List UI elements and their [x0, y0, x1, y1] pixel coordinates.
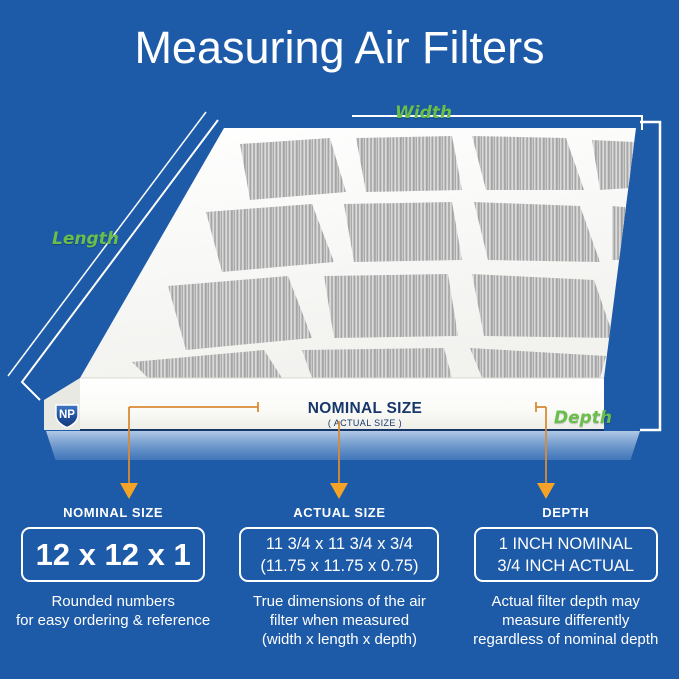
- infographic-page: Measuring Air Filters: [0, 0, 679, 679]
- card-value-line: 1 INCH NOMINAL: [497, 533, 634, 555]
- card-caption: Actual filter depth may measure differen…: [459, 592, 673, 649]
- card-value: 11 3/4 x 11 3/4 x 3/4 (11.75 x 11.75 x 0…: [260, 533, 418, 577]
- card-nominal-size: NOMINAL SIZE 12 x 12 x 1 Rounded numbers…: [0, 505, 226, 649]
- info-cards: NOMINAL SIZE 12 x 12 x 1 Rounded numbers…: [0, 505, 679, 649]
- card-value: 12 x 12 x 1: [36, 537, 191, 573]
- width-label: Width: [395, 103, 452, 123]
- card-value-box: 12 x 12 x 1: [21, 527, 205, 582]
- card-caption-line: True dimensions of the air: [232, 592, 446, 611]
- card-value-line: 11 3/4 x 11 3/4 x 3/4: [260, 533, 418, 555]
- card-value: 1 INCH NOMINAL 3/4 INCH ACTUAL: [497, 533, 634, 577]
- card-caption-line: measure differently: [459, 611, 673, 630]
- depth-bracket: [640, 122, 660, 430]
- card-caption-line: regardless of nominal depth: [459, 630, 673, 649]
- card-value-line: (11.75 x 11.75 x 0.75): [260, 555, 418, 577]
- card-caption-line: filter when measured: [232, 611, 446, 630]
- card-header: DEPTH: [459, 505, 673, 520]
- card-caption-line: (width x length x depth): [232, 630, 446, 649]
- card-header: NOMINAL SIZE: [6, 505, 220, 520]
- callout-arrows: [0, 395, 679, 510]
- card-caption: True dimensions of the air filter when m…: [232, 592, 446, 649]
- card-value-line: 3/4 INCH ACTUAL: [497, 555, 634, 577]
- card-actual-size: ACTUAL SIZE 11 3/4 x 11 3/4 x 3/4 (11.75…: [226, 505, 452, 649]
- page-title: Measuring Air Filters: [0, 22, 679, 74]
- arrow-heads: [120, 483, 555, 499]
- card-caption: Rounded numbers for easy ordering & refe…: [6, 592, 220, 630]
- card-caption-line: for easy ordering & reference: [6, 611, 220, 630]
- length-label: Length: [52, 229, 119, 249]
- card-caption-line: Actual filter depth may: [459, 592, 673, 611]
- card-value-box: 11 3/4 x 11 3/4 x 3/4 (11.75 x 11.75 x 0…: [239, 527, 439, 582]
- card-header: ACTUAL SIZE: [232, 505, 446, 520]
- card-caption-line: Rounded numbers: [6, 592, 220, 611]
- card-value-box: 1 INCH NOMINAL 3/4 INCH ACTUAL: [474, 527, 658, 582]
- card-depth: DEPTH 1 INCH NOMINAL 3/4 INCH ACTUAL Act…: [453, 505, 679, 649]
